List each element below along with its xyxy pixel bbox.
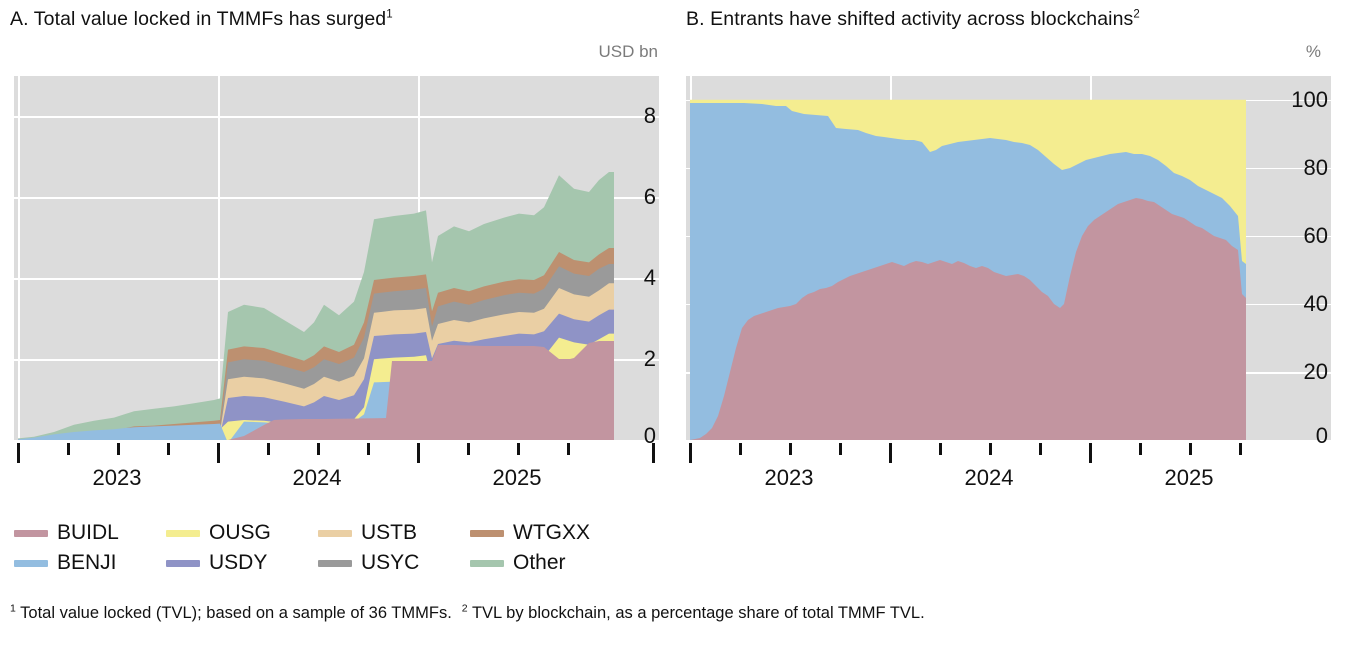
x-label-2024: 2024: [965, 465, 1014, 491]
x-tick-minor-5: [939, 443, 942, 455]
x-tick-major-2024: [889, 443, 892, 463]
legend-label-ousg: OUSG: [209, 521, 271, 545]
panel-a-y-axis-labels: 8 6 4 2 0: [614, 76, 659, 440]
panel-a-series-area: [14, 76, 614, 440]
x-tick-minor-1: [67, 443, 70, 455]
y-label-8: 8: [644, 103, 656, 129]
legend-item-buidl[interactable]: BUIDL: [14, 521, 166, 545]
x-tick-minor-10: [1189, 443, 1192, 455]
x-tick-minor-9: [1139, 443, 1142, 455]
panel-b-title-text: B. Entrants have shifted activity across…: [686, 8, 1133, 30]
panel-a-x-axis: 2023 2024 2025: [14, 443, 659, 467]
legend-swatch-buidl-icon: [14, 530, 48, 537]
x-tick-minor-3: [167, 443, 170, 455]
panel-a-title-text: A. Total value locked in TMMFs has surge…: [10, 8, 386, 30]
legend-label-other: Other: [513, 551, 566, 575]
x-tick-minor-6: [989, 443, 992, 455]
x-tick-minor-10: [517, 443, 520, 455]
panel-a-unit-label: USD bn: [516, 42, 658, 62]
x-tick-minor-1: [739, 443, 742, 455]
x-tick-major-2025: [1089, 443, 1092, 463]
footnote-1-marker: 1: [10, 603, 16, 615]
x-tick-major-end: [652, 443, 655, 463]
legend-label-benji: BENJI: [57, 551, 117, 575]
panel-b-unit-label: %: [676, 42, 1321, 62]
x-tick-minor-2: [117, 443, 120, 455]
x-tick-minor-9: [467, 443, 470, 455]
y-label-80: 80: [1304, 155, 1328, 181]
x-label-2025: 2025: [1165, 465, 1214, 491]
x-tick-minor-5: [267, 443, 270, 455]
y-label-4: 4: [644, 265, 656, 291]
legend-item-ustb[interactable]: USTB: [318, 521, 470, 545]
footnote-2-text: TVL by blockchain, as a percentage share…: [472, 604, 925, 622]
x-tick-major-0: [689, 443, 692, 463]
panel-a-stacked-areas: [14, 76, 614, 440]
y-label-2: 2: [644, 346, 656, 372]
legend-label-usdy: USDY: [209, 551, 267, 575]
panel-b-title-footnote-marker: 2: [1133, 9, 1140, 21]
footnotes: 1 Total value locked (TVL); based on a s…: [10, 604, 1342, 623]
x-label-2025: 2025: [493, 465, 542, 491]
panel-b-series-area: [686, 76, 1286, 440]
legend-item-usdy[interactable]: USDY: [166, 551, 318, 575]
x-tick-minor-11: [1239, 443, 1242, 455]
legend-item-ousg[interactable]: OUSG: [166, 521, 318, 545]
y-label-60: 60: [1304, 223, 1328, 249]
x-tick-major-2024: [217, 443, 220, 463]
legend-swatch-other-icon: [470, 560, 504, 567]
x-tick-major-0: [17, 443, 20, 463]
panel-a-legend-row-2: BENJI USDY USYC Other: [14, 548, 659, 578]
panel-b-y-axis-labels: 100 80 60 40 20 0: [1286, 76, 1331, 440]
legend-item-wtgxx[interactable]: WTGXX: [470, 521, 622, 545]
legend-label-usyc: USYC: [361, 551, 419, 575]
panel-a-legend-row-1: BUIDL OUSG USTB WTGXX: [14, 518, 659, 548]
legend-item-benji[interactable]: BENJI: [14, 551, 166, 575]
x-tick-minor-11: [567, 443, 570, 455]
legend-swatch-ustb-icon: [318, 530, 352, 537]
legend-swatch-usyc-icon: [318, 560, 352, 567]
y-label-20: 20: [1304, 359, 1328, 385]
panel-b-stacked-areas: [686, 76, 1286, 440]
x-tick-minor-7: [1039, 443, 1042, 455]
panel-a-legend: BUIDL OUSG USTB WTGXX BENJI USDY: [14, 518, 659, 578]
x-label-2023: 2023: [93, 465, 142, 491]
panel-b-x-axis: 2023 2024 2025: [686, 443, 1331, 467]
legend-swatch-ousg-icon: [166, 530, 200, 537]
legend-item-usyc[interactable]: USYC: [318, 551, 470, 575]
legend-swatch-wtgxx-icon: [470, 530, 504, 537]
legend-label-ustb: USTB: [361, 521, 417, 545]
legend-swatch-usdy-icon: [166, 560, 200, 567]
y-label-6: 6: [644, 184, 656, 210]
y-label-100: 100: [1291, 87, 1328, 113]
x-label-2024: 2024: [293, 465, 342, 491]
panel-a-title-footnote-marker: 1: [386, 9, 393, 21]
x-tick-minor-2: [789, 443, 792, 455]
panel-a-plot: 8 6 4 2 0: [14, 76, 659, 440]
footnote-1-text: Total value locked (TVL); based on a sam…: [20, 604, 452, 622]
legend-item-other[interactable]: Other: [470, 551, 622, 575]
legend-label-wtgxx: WTGXX: [513, 521, 590, 545]
x-tick-minor-3: [839, 443, 842, 455]
x-tick-minor-6: [317, 443, 320, 455]
panel-a-title: A. Total value locked in TMMFs has surge…: [10, 8, 393, 31]
legend-label-buidl: BUIDL: [57, 521, 119, 545]
panel-a: A. Total value locked in TMMFs has surge…: [0, 0, 676, 595]
x-tick-minor-7: [367, 443, 370, 455]
x-label-2023: 2023: [765, 465, 814, 491]
y-label-40: 40: [1304, 291, 1328, 317]
footnote-2-marker: 2: [462, 603, 468, 615]
legend-swatch-benji-icon: [14, 560, 48, 567]
gridline-0: [14, 440, 659, 442]
x-tick-major-2025: [417, 443, 420, 463]
gridline-0: [686, 440, 1331, 442]
panel-b-plot: 100 80 60 40 20 0: [686, 76, 1331, 440]
panel-b: B. Entrants have shifted activity across…: [676, 0, 1352, 595]
panel-b-title: B. Entrants have shifted activity across…: [686, 8, 1140, 31]
